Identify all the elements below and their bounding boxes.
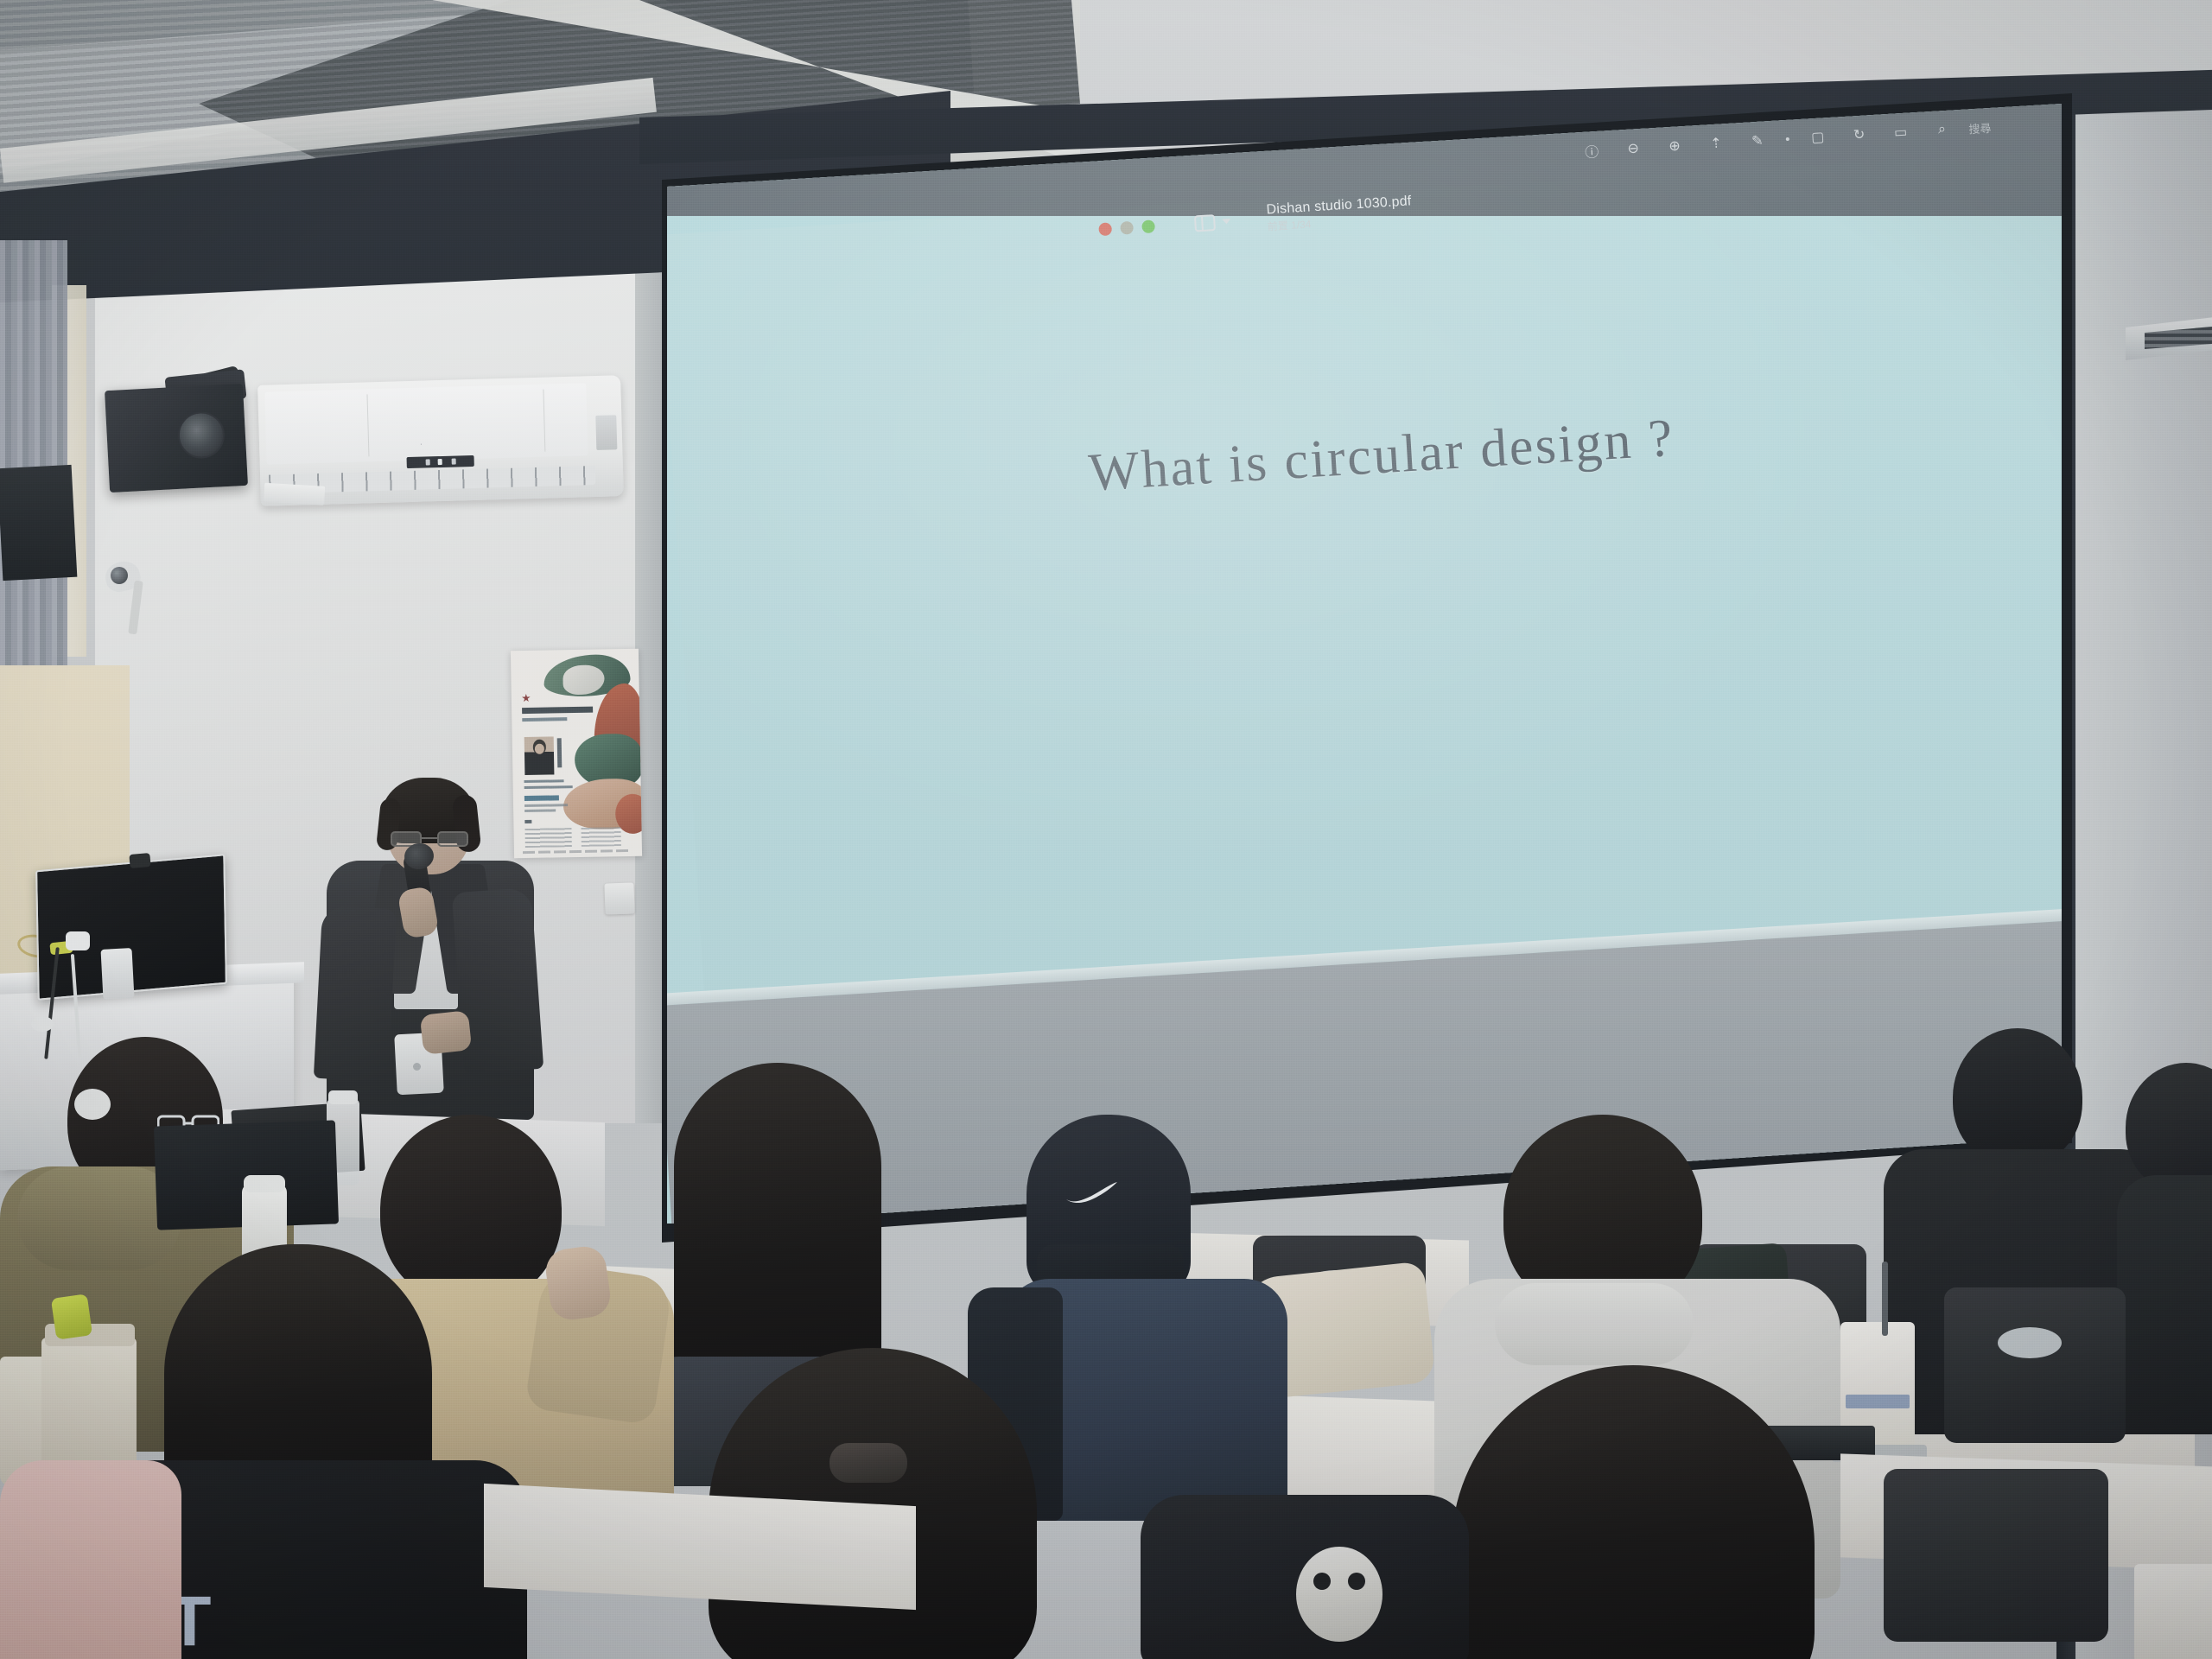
close-button[interactable]	[1098, 222, 1112, 236]
device-button	[413, 1063, 421, 1071]
ceiling-speaker	[105, 384, 248, 493]
air-conditioner: .	[257, 375, 624, 506]
camera-lens-icon	[111, 567, 128, 584]
window-curtain	[0, 240, 67, 681]
nike-swoosh-icon	[1065, 1182, 1118, 1205]
annotate-icon[interactable]: ▭	[1885, 117, 1916, 148]
poster-headline	[522, 707, 593, 714]
info-icon[interactable]: ⓘ	[1576, 136, 1607, 167]
zoom-button[interactable]	[1141, 219, 1155, 233]
bottle-cap	[244, 1175, 285, 1192]
audience-member	[2117, 1063, 2212, 1426]
poster-body-column	[582, 827, 621, 847]
poster-speaker-name	[557, 738, 563, 767]
document-title: Dishan studio 1030.pdf	[1266, 194, 1412, 218]
ac-flap	[264, 483, 325, 505]
chair-handle-cutout	[1998, 1327, 2062, 1358]
chevron-down-icon	[1222, 219, 1230, 225]
zoom-out-icon[interactable]: ⊖	[1618, 133, 1649, 164]
hair-clip-icon	[829, 1443, 907, 1483]
presenter-arm-left	[314, 906, 397, 1082]
sidebar-icon	[1194, 214, 1216, 232]
crop-icon[interactable]: ▢	[1802, 122, 1834, 153]
document-subtitle: 前置 1/34	[1267, 218, 1311, 232]
presenter-glasses-icon	[391, 831, 468, 847]
speaker-cone-icon	[176, 410, 226, 460]
toolbar-search-label[interactable]: 搜尋	[1968, 118, 1992, 137]
speaker-side-box	[0, 465, 77, 581]
ac-brand-label: .	[420, 438, 423, 447]
poster-star-logo-icon	[522, 694, 531, 702]
lecture-hall-photo: .	[0, 0, 2212, 1659]
long-hair	[1452, 1365, 1815, 1659]
water-bottle-cap	[328, 1090, 358, 1104]
head	[2126, 1063, 2212, 1192]
projection-screen[interactable]: What is circular design ?  預覽程式 檔案 編輯 顯…	[667, 104, 2062, 1224]
share-icon[interactable]: ⇡	[1700, 128, 1732, 159]
charm-eye	[1348, 1573, 1365, 1590]
toolbar-separator-dot	[1786, 137, 1789, 141]
tumbler-cup	[2134, 1564, 2212, 1659]
torso	[0, 1460, 181, 1659]
torso	[2117, 1175, 2212, 1434]
monitor-webcam-icon	[129, 853, 150, 868]
ac-front-panel	[264, 383, 588, 464]
markup-icon[interactable]: ✎	[1742, 125, 1773, 156]
poster-speaker-photo	[524, 736, 555, 775]
slide-title: What is circular design ?	[1087, 408, 1676, 505]
audience-member	[0, 1460, 173, 1659]
presenter	[311, 778, 553, 1123]
head	[1953, 1028, 2082, 1166]
audience-member	[1417, 1365, 1866, 1659]
straw	[1882, 1262, 1888, 1336]
poster-subheadline	[522, 717, 567, 721]
light-switch[interactable]	[604, 882, 634, 914]
presenter-hand-lower	[420, 1010, 473, 1055]
charm-eye	[1313, 1573, 1331, 1590]
monitor-stand	[101, 948, 135, 1000]
ac-side-panel	[595, 415, 617, 450]
window-traffic-lights	[1098, 219, 1155, 236]
mouse[interactable]	[31, 1016, 54, 1032]
rotate-icon[interactable]: ↻	[1844, 119, 1875, 150]
zoom-in-icon[interactable]: ⊕	[1659, 130, 1690, 162]
document-title-block: Dishan studio 1030.pdf 前置 1/34	[1266, 194, 1413, 236]
chair[interactable]	[1884, 1469, 2108, 1642]
hood	[1495, 1283, 1694, 1365]
sidebar-toggle-button[interactable]	[1194, 213, 1231, 232]
bag-charm-icon	[1296, 1547, 1382, 1642]
minimize-button[interactable]	[1120, 220, 1134, 234]
podium-clip	[66, 931, 90, 950]
search-field-icon[interactable]: ⌕	[1927, 114, 1958, 145]
hand	[543, 1244, 613, 1323]
ac-display	[407, 455, 474, 468]
laptop-charger	[74, 1089, 111, 1120]
chair[interactable]	[1944, 1287, 2126, 1443]
